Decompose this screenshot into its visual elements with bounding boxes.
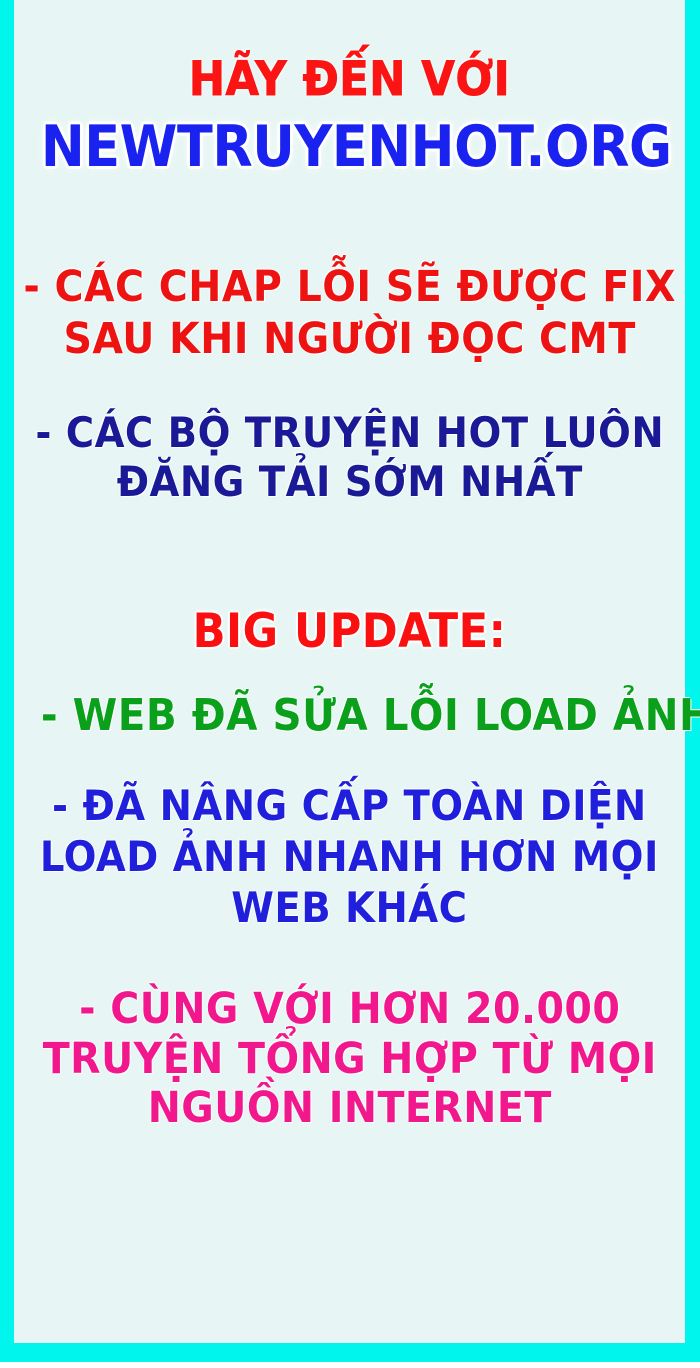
notice-fix-line-1: - CÁC CHAP LỖI SẼ ĐƯỢC FIX [23, 266, 676, 310]
notice-hot-series-line-2: ĐĂNG TẢI SỚM NHẤT [35, 461, 664, 504]
poster-panel: HÃY ĐẾN VỚI NEWTRUYENHOT.ORG - CÁC CHAP … [14, 0, 685, 1343]
notice-hot-series-line-1: - CÁC BỘ TRUYỆN HOT LUÔN [35, 412, 664, 455]
update-full-upgrade-block: - ĐÃ NÂNG CẤP TOÀN DIỆN LOAD ẢNH NHANH H… [13, 785, 686, 929]
notice-fix-line-2: SAU KHI NGƯỜI ĐỌC CMT [23, 318, 676, 362]
update-full-upgrade-line-1: - ĐÃ NÂNG CẤP TOÀN DIỆN [40, 785, 659, 828]
promo-poster: HÃY ĐẾN VỚI NEWTRUYENHOT.ORG - CÁC CHAP … [0, 0, 700, 1368]
update-library-count-line-2: TRUYỆN TỔNG HỢP TỪ MỌI [42, 1038, 656, 1082]
update-full-upgrade-line-3: WEB KHÁC [40, 887, 659, 930]
tagline-text: HÃY ĐẾN VỚI [41, 56, 658, 104]
bottom-white-strip [0, 1362, 700, 1368]
update-library-count-line-1: - CÙNG VỚI HƠN 20.000 [42, 988, 656, 1032]
update-library-count-line-3: NGUỒN INTERNET [42, 1087, 656, 1131]
notice-fix-block: - CÁC CHAP LỖI SẼ ĐƯỢC FIX SAU KHI NGƯỜI… [0, 266, 700, 362]
update-library-count-block: - CÙNG VỚI HƠN 20.000 TRUYỆN TỔNG HỢP TỪ… [16, 988, 684, 1132]
update-full-upgrade-line-2: LOAD ẢNH NHANH HƠN MỌI [40, 836, 659, 879]
big-update-heading: BIG UPDATE: [41, 608, 658, 656]
site-name-text[interactable]: NEWTRUYENHOT.ORG [41, 118, 658, 176]
notice-hot-series-block: - CÁC BỘ TRUYỆN HOT LUÔN ĐĂNG TẢI SỚM NH… [8, 412, 692, 504]
update-image-load-fix-line-1: - WEB ĐÃ SỬA LỖI LOAD ẢNH [41, 694, 658, 739]
